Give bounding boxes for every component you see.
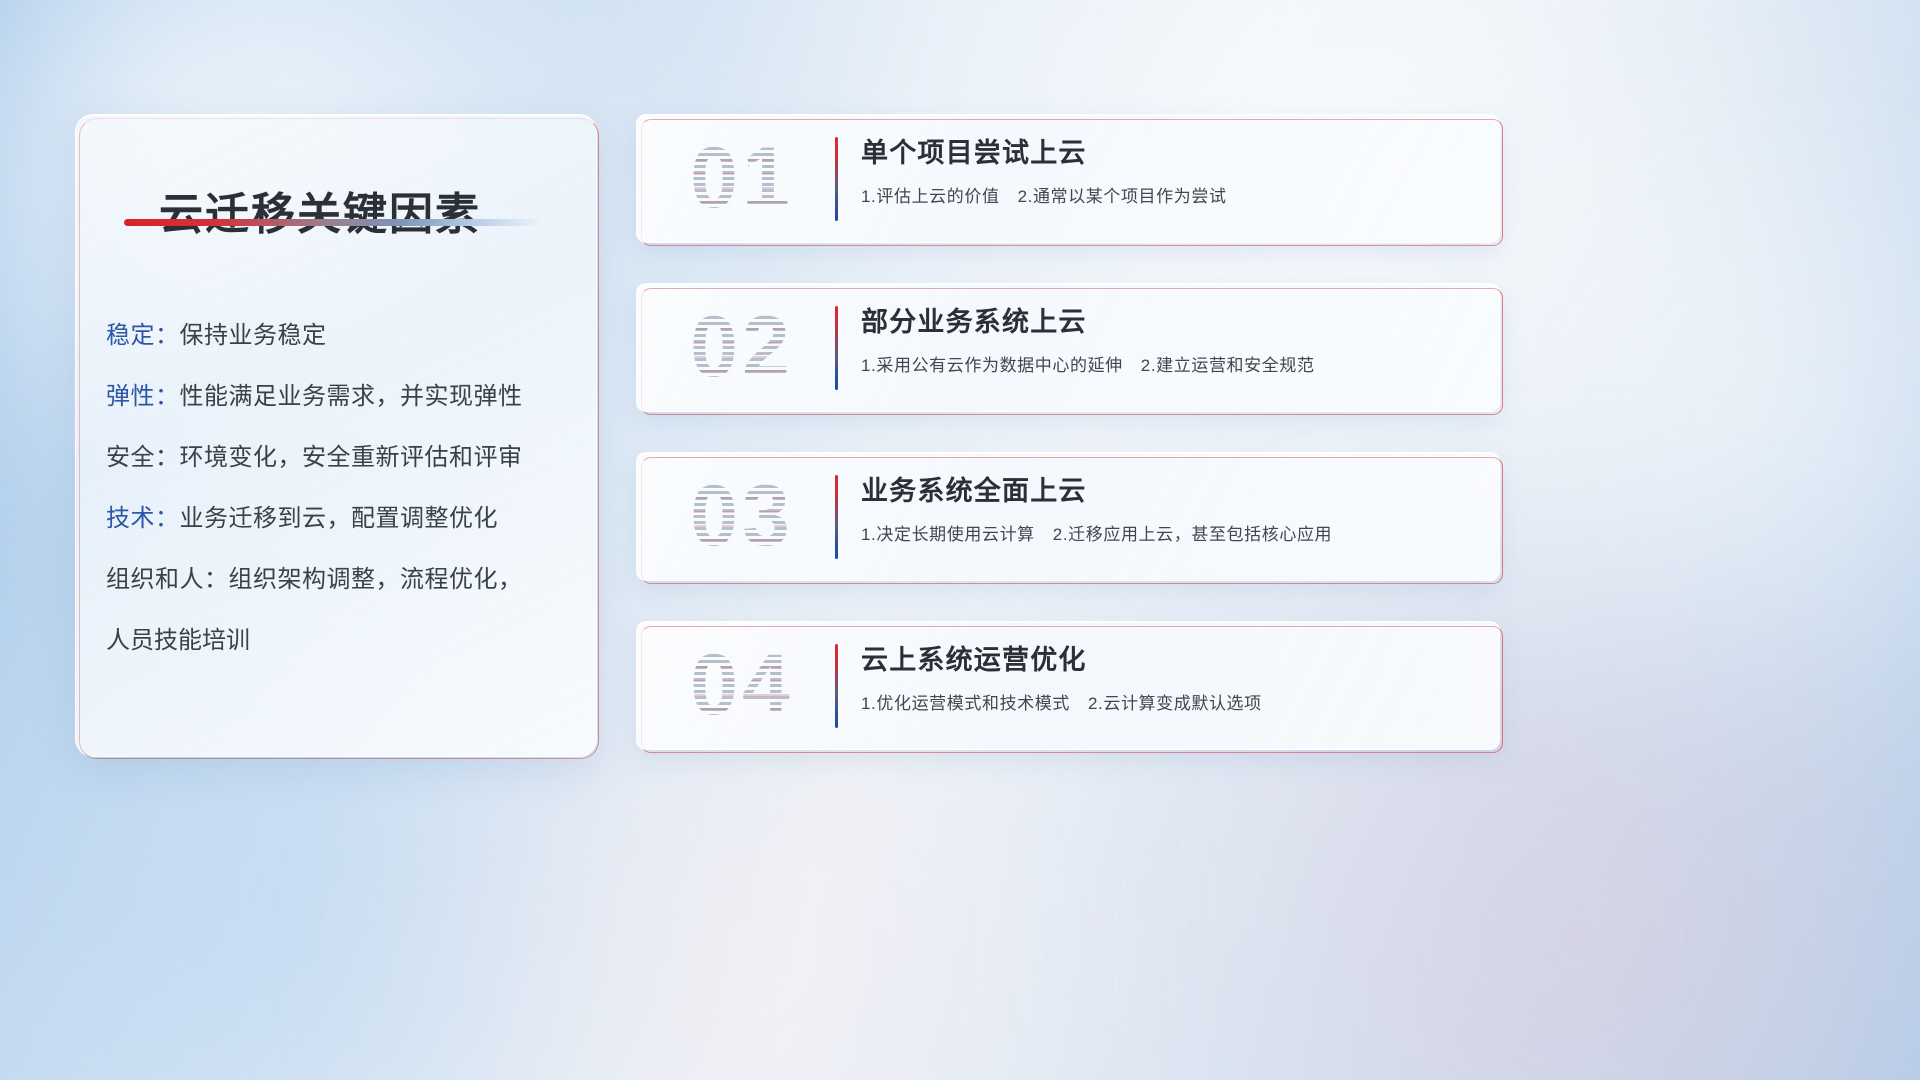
list-item-key: 安全： bbox=[106, 444, 180, 471]
step-detail: 1.决定长期使用云计算2.迁移应用上云，甚至包括核心应用 bbox=[861, 520, 1481, 545]
step-detail-1: 1.决定长期使用云计算 bbox=[861, 525, 1035, 544]
step-detail-2: 2.迁移应用上云，甚至包括核心应用 bbox=[1053, 525, 1332, 544]
step-title: 单个项目尝试上云 bbox=[861, 131, 1481, 170]
step-number-ghost-tint: 03 bbox=[657, 455, 827, 577]
step-title: 云上系统运营优化 bbox=[861, 638, 1481, 677]
step-detail-1: 1.采用公有云作为数据中心的延伸 bbox=[861, 356, 1123, 375]
step-detail-2: 2.建立运营和安全规范 bbox=[1141, 356, 1315, 375]
step-card[interactable]: 01 01 单个项目尝试上云 1.评估上云的价值2.通常以某个项目作为尝试 bbox=[636, 114, 1500, 243]
step-title: 部分业务系统上云 bbox=[861, 300, 1481, 339]
list-item-value: 业务迁移到云，配置调整优化 bbox=[180, 505, 499, 532]
step-detail-2: 2.通常以某个项目作为尝试 bbox=[1018, 187, 1227, 206]
step-number-ghost-tint: 04 bbox=[657, 624, 827, 746]
step-detail-1: 1.优化运营模式和技术模式 bbox=[861, 694, 1070, 713]
migration-steps-list: 01 01 单个项目尝试上云 1.评估上云的价值2.通常以某个项目作为尝试 02… bbox=[636, 114, 1500, 790]
list-item: 技术：业务迁移到云，配置调整优化 bbox=[106, 488, 574, 549]
list-item-key: 组织和人： bbox=[106, 566, 229, 593]
step-detail-1: 1.评估上云的价值 bbox=[861, 187, 1000, 206]
list-item: 弹性：性能满足业务需求，并实现弹性 bbox=[106, 366, 574, 427]
step-card-body: 部分业务系统上云 1.采用公有云作为数据中心的延伸2.建立运营和安全规范 bbox=[861, 300, 1481, 376]
step-card-body: 单个项目尝试上云 1.评估上云的价值2.通常以某个项目作为尝试 bbox=[861, 131, 1481, 207]
list-item-value: 性能满足业务需求，并实现弹性 bbox=[180, 383, 523, 410]
step-detail: 1.采用公有云作为数据中心的延伸2.建立运营和安全规范 bbox=[861, 351, 1481, 376]
accent-bar bbox=[835, 475, 838, 559]
list-item: 稳定：保持业务稳定 bbox=[106, 305, 574, 366]
list-item: 组织和人：组织架构调整，流程优化， bbox=[106, 549, 574, 610]
step-detail-2: 2.云计算变成默认选项 bbox=[1088, 694, 1262, 713]
step-card-body: 云上系统运营优化 1.优化运营模式和技术模式2.云计算变成默认选项 bbox=[861, 638, 1481, 714]
step-detail: 1.优化运营模式和技术模式2.云计算变成默认选项 bbox=[861, 689, 1481, 714]
list-item-value: 组织架构调整，流程优化， bbox=[229, 566, 523, 593]
step-card[interactable]: 03 03 业务系统全面上云 1.决定长期使用云计算2.迁移应用上云，甚至包括核… bbox=[636, 452, 1500, 581]
key-factors-panel: 云迁移关键因素 稳定：保持业务稳定 弹性：性能满足业务需求，并实现弹性 安全：环… bbox=[75, 114, 597, 757]
accent-bar bbox=[835, 137, 838, 221]
step-title: 业务系统全面上云 bbox=[861, 469, 1481, 508]
page-title: 云迁移关键因素 bbox=[159, 178, 481, 242]
list-item-key: 稳定： bbox=[106, 322, 180, 349]
list-item-key: 弹性： bbox=[106, 383, 180, 410]
step-number-ghost-tint: 01 bbox=[657, 117, 827, 239]
accent-bar bbox=[835, 644, 838, 728]
slide-canvas: 云迁移关键因素 稳定：保持业务稳定 弹性：性能满足业务需求，并实现弹性 安全：环… bbox=[0, 0, 1920, 1080]
list-item-key: 技术： bbox=[106, 505, 180, 532]
list-item-value: 环境变化，安全重新评估和评审 bbox=[180, 444, 523, 471]
title-underline-gradient bbox=[124, 219, 542, 226]
key-factors-list: 稳定：保持业务稳定 弹性：性能满足业务需求，并实现弹性 安全：环境变化，安全重新… bbox=[106, 305, 574, 671]
step-card[interactable]: 04 04 云上系统运营优化 1.优化运营模式和技术模式2.云计算变成默认选项 bbox=[636, 621, 1500, 750]
list-item-value: 保持业务稳定 bbox=[180, 322, 327, 349]
list-item: 安全：环境变化，安全重新评估和评审 bbox=[106, 427, 574, 488]
list-item-continuation: 人员技能培训 bbox=[106, 610, 574, 671]
accent-bar bbox=[835, 306, 838, 390]
step-detail: 1.评估上云的价值2.通常以某个项目作为尝试 bbox=[861, 182, 1481, 207]
step-number-ghost-tint: 02 bbox=[657, 286, 827, 408]
step-card[interactable]: 02 02 部分业务系统上云 1.采用公有云作为数据中心的延伸2.建立运营和安全… bbox=[636, 283, 1500, 412]
step-card-body: 业务系统全面上云 1.决定长期使用云计算2.迁移应用上云，甚至包括核心应用 bbox=[861, 469, 1481, 545]
